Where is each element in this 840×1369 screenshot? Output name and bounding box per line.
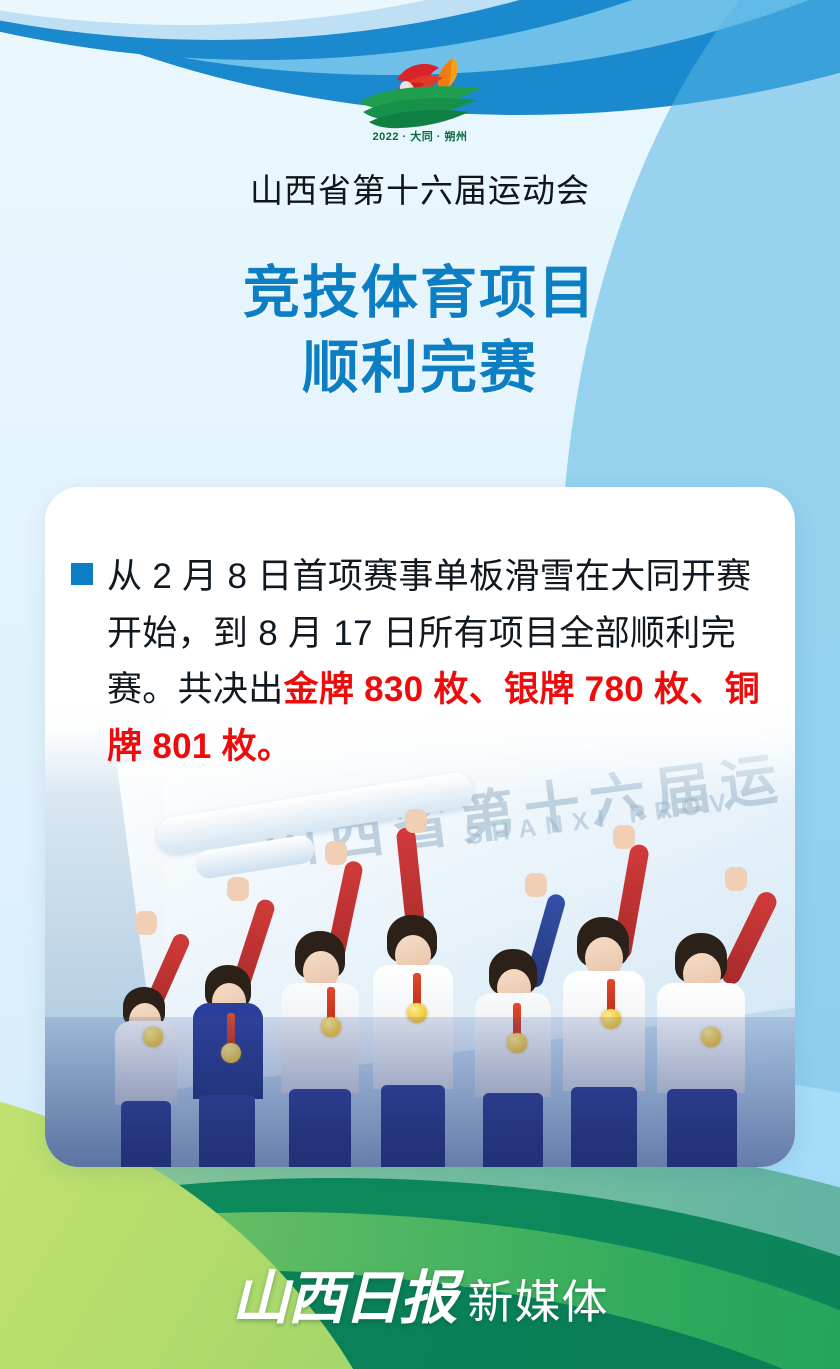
body-paragraph: 从 2 月 8 日首项赛事单板滑雪在大同开赛开始，到 8 月 17 日所有项目全… xyxy=(107,549,761,776)
bullet-paragraph: 从 2 月 8 日首项赛事单板滑雪在大同开赛开始，到 8 月 17 日所有项目全… xyxy=(71,549,761,776)
page-title: 竞技体育项目 顺利完赛 xyxy=(0,256,840,406)
event-subtitle: 山西省第十六届运动会 xyxy=(0,164,840,212)
poster-root: 2022 · 大同 · 朔州 山西省第十六届运动会 竞技体育项目 顺利完赛 从 … xyxy=(0,0,840,1369)
square-bullet-icon xyxy=(71,563,93,585)
brand-name: 山西日报 xyxy=(231,1251,455,1335)
poster-header: 2022 · 大同 · 朔州 山西省第十六届运动会 竞技体育项目 顺利完赛 xyxy=(0,0,840,406)
photo-foreground-shadow xyxy=(45,1017,795,1167)
shanxi-games-emblem: 2022 · 大同 · 朔州 xyxy=(335,50,505,142)
headline-line-1: 竞技体育项目 xyxy=(0,256,840,331)
brand-sub-label: 新媒体 xyxy=(468,1266,609,1332)
emblem-caption: 2022 · 大同 · 朔州 xyxy=(335,128,505,144)
card-text-block: 从 2 月 8 日首项赛事单板滑雪在大同开赛开始，到 8 月 17 日所有项目全… xyxy=(45,487,795,776)
headline-line-2: 顺利完赛 xyxy=(0,331,840,406)
footer-brand: 山西日报 新媒体 xyxy=(0,1251,840,1335)
content-card: 从 2 月 8 日首项赛事单板滑雪在大同开赛开始，到 8 月 17 日所有项目全… xyxy=(45,487,795,1167)
